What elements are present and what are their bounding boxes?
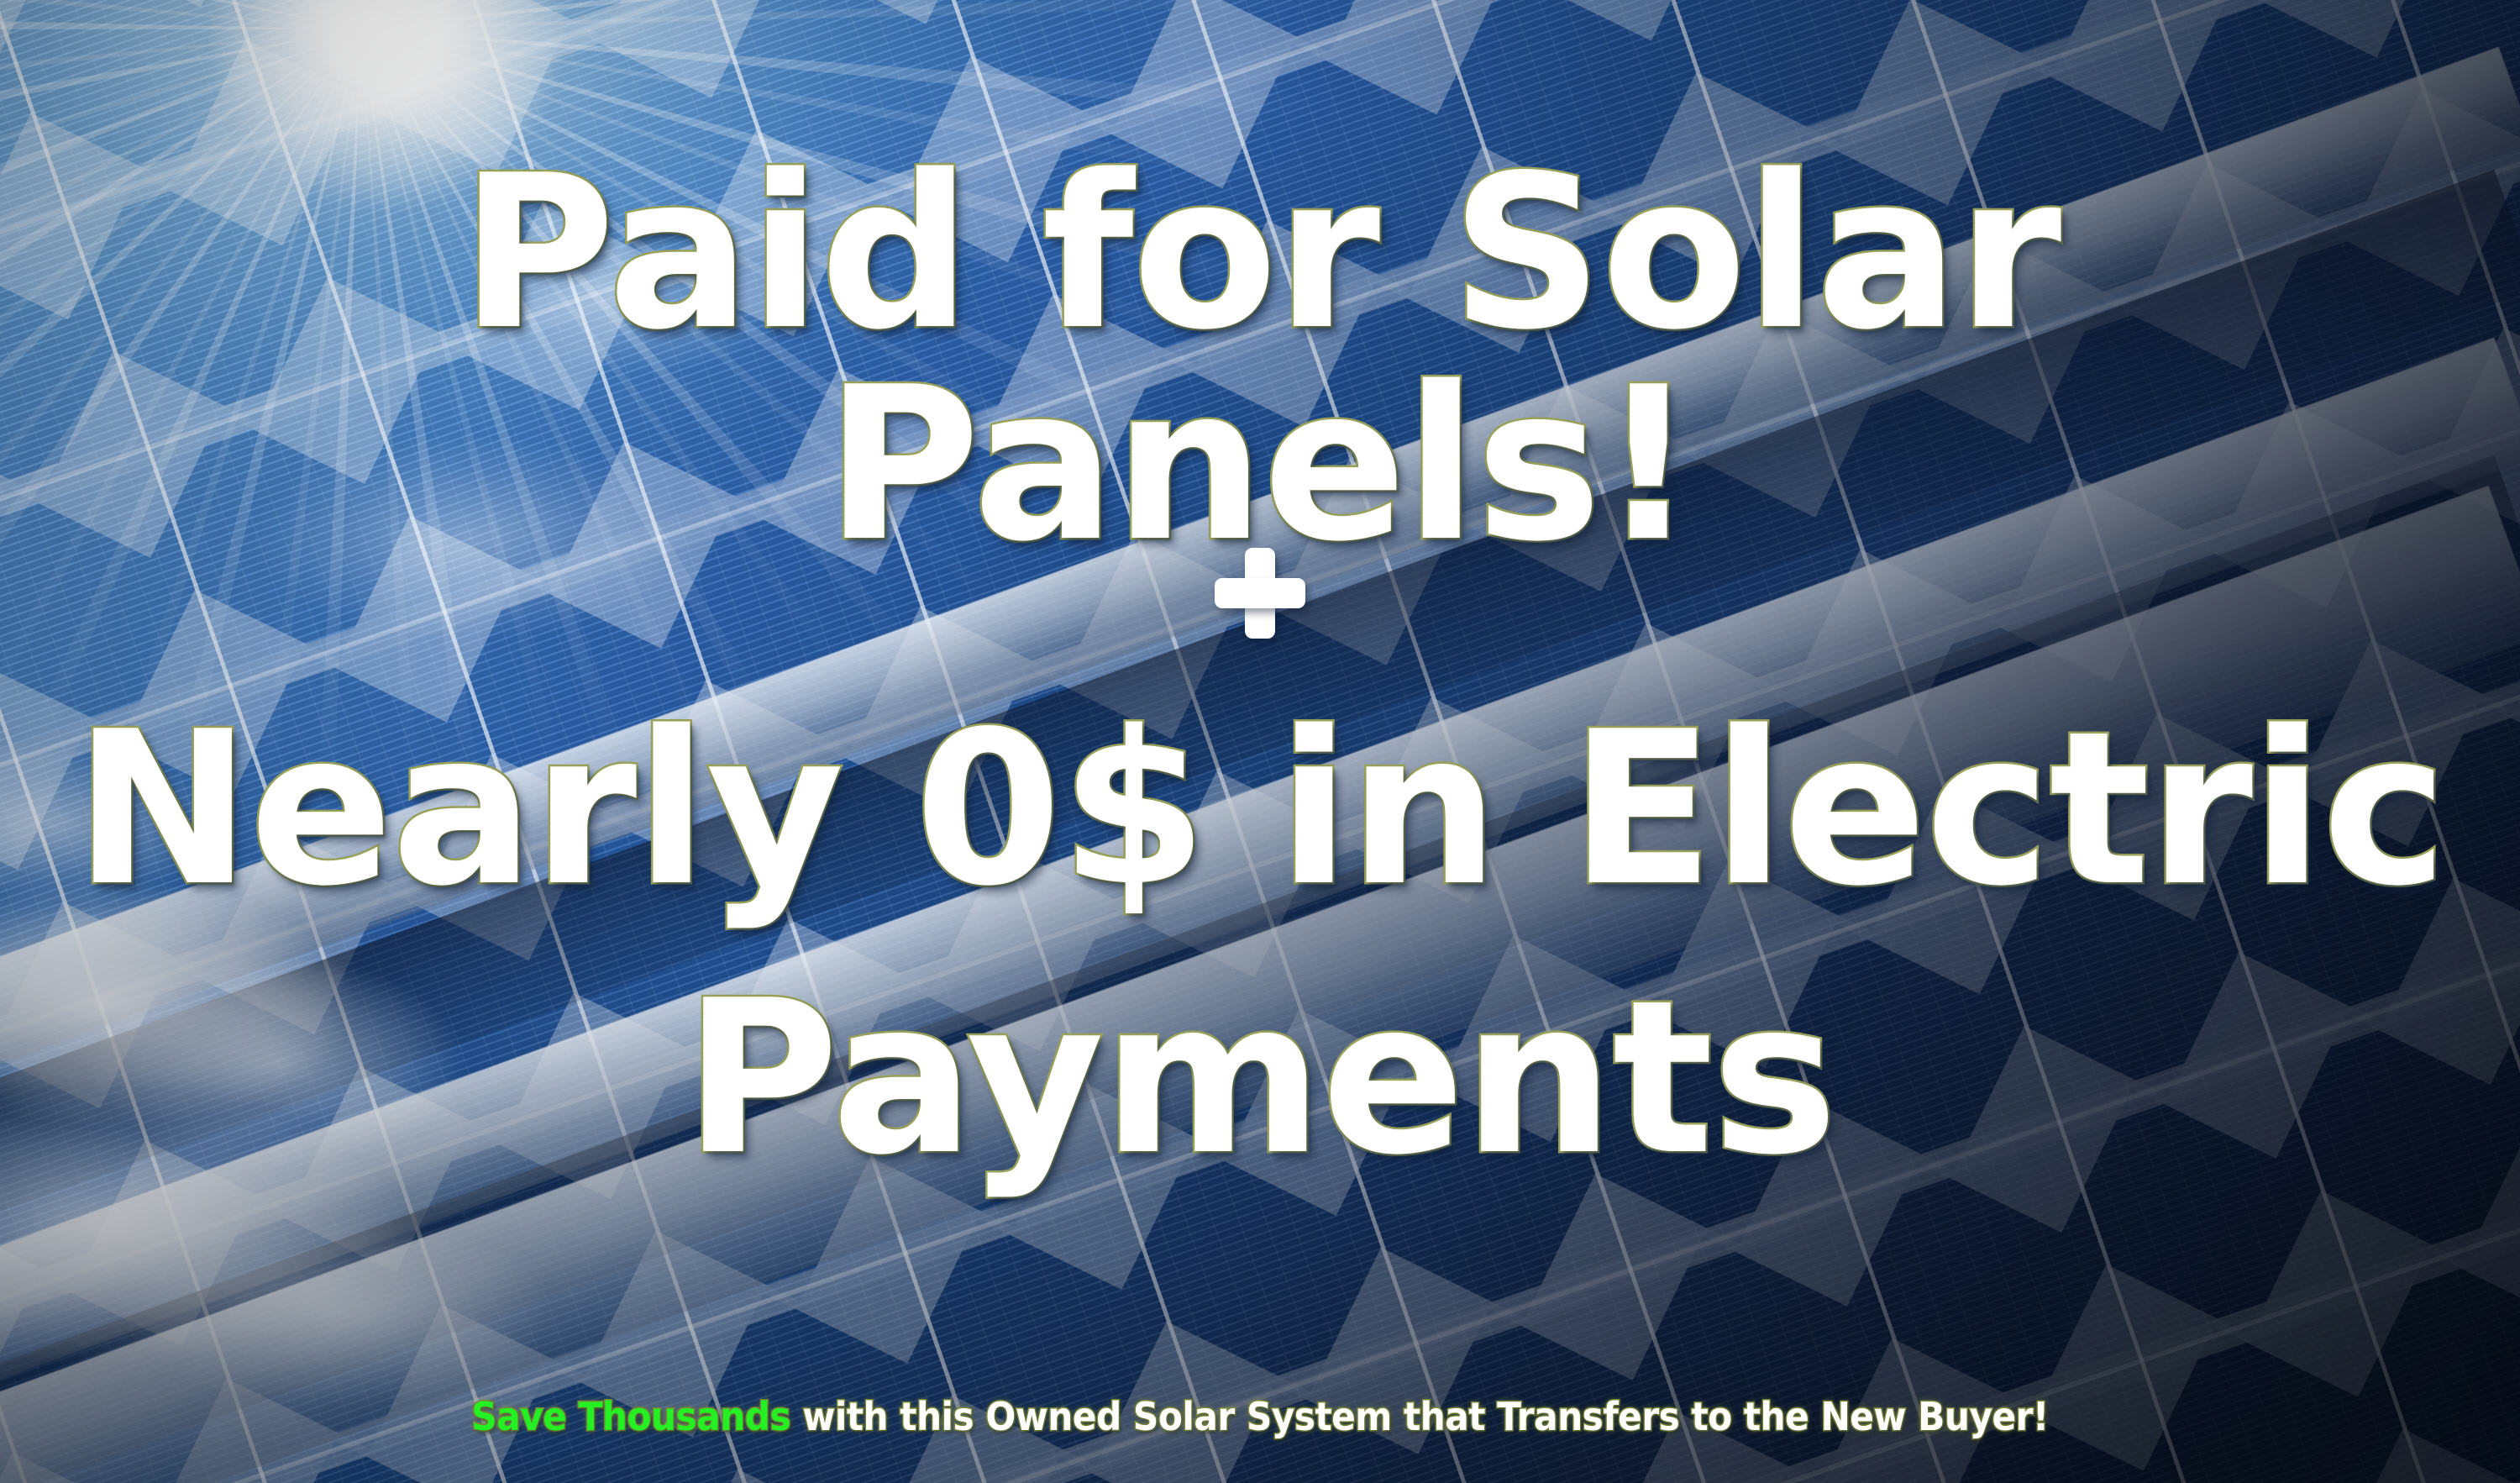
plus-icon	[1215, 548, 1305, 639]
solar-banner: Paid for Solar Panels! Nearly 0$ in Elec…	[0, 0, 2520, 1483]
headline-line-2: Nearly 0$ in Electric	[0, 704, 2520, 916]
banner-content: Paid for Solar Panels! Nearly 0$ in Elec…	[0, 0, 2520, 1483]
tagline-rest: with this Owned Solar System that Transf…	[790, 1394, 2049, 1439]
headline-line-3: Payments	[0, 973, 2520, 1185]
tagline: Save Thousands with this Owned Solar Sys…	[101, 1394, 2419, 1439]
plus-separator	[0, 504, 2520, 664]
tagline-highlight: Save Thousands	[471, 1394, 790, 1439]
